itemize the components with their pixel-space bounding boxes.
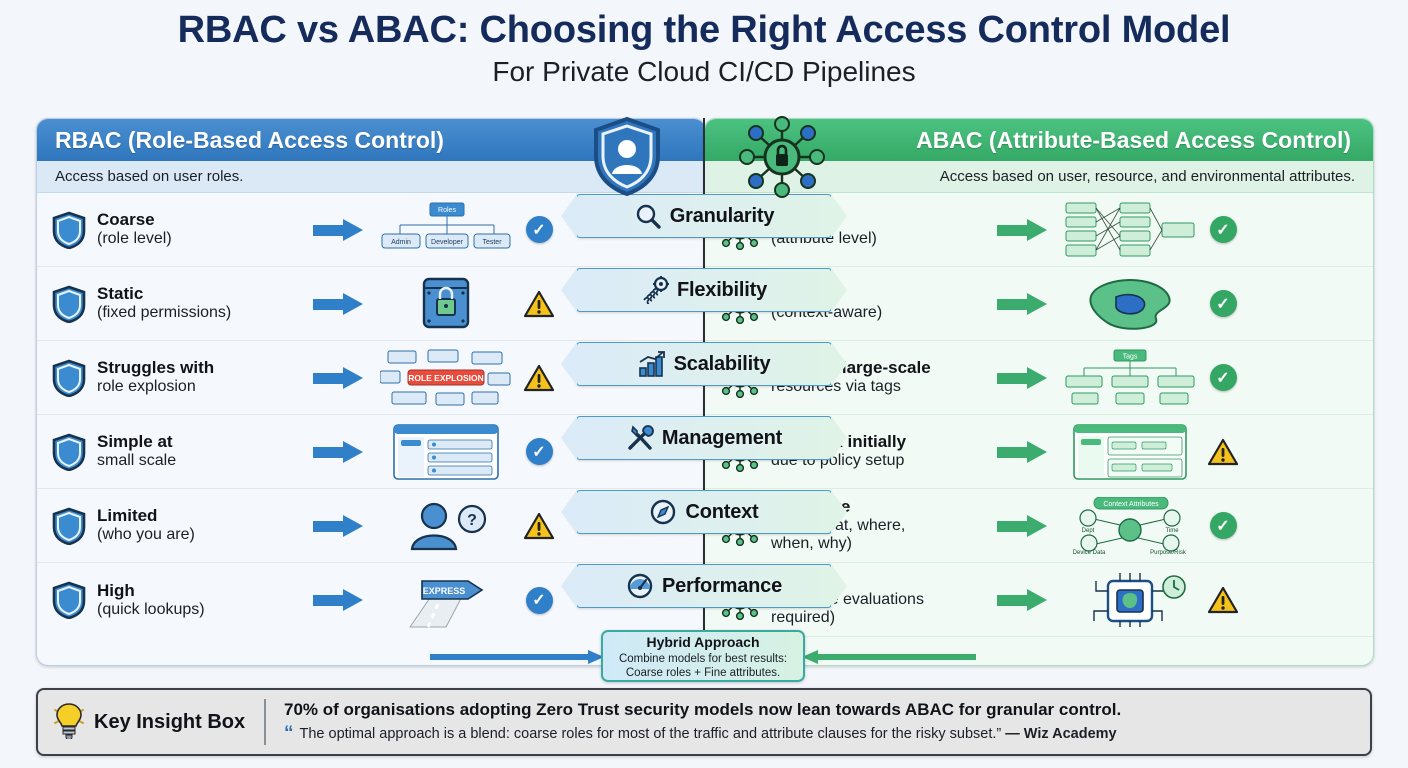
criteria-chip-management[interactable]: Management (576, 416, 832, 460)
attribute-network-lock-icon (738, 116, 826, 198)
locked-box-icon (376, 275, 516, 333)
arrow-right-blue (313, 219, 365, 241)
status-check-icon: ✓ (1200, 290, 1246, 317)
svg-text:ROLE EXPLOSION: ROLE EXPLOSION (408, 373, 484, 383)
arrow-right-blue (313, 515, 365, 537)
svg-text:Context Attributes: Context Attributes (1103, 501, 1159, 508)
arrow-right-green (997, 441, 1049, 463)
key-insight-body: 70% of organisations adopting Zero Trust… (266, 699, 1121, 745)
tools-icon (626, 424, 654, 452)
criteria-column: GranularityFlexibilityScalabilityManagem… (576, 194, 832, 638)
role-explosion-diagram: ROLE EXPLOSION (376, 349, 516, 407)
shield-icon (49, 285, 89, 323)
gauge-icon (626, 572, 654, 600)
svg-text:EXPRESS: EXPRESS (423, 586, 466, 596)
quote-icon: “ (284, 725, 294, 742)
spring-gear-icon (641, 276, 669, 304)
svg-text:Admin: Admin (391, 239, 411, 246)
status-warning-icon (516, 512, 562, 540)
realtime-chip-clock-icon (1060, 571, 1200, 629)
criteria-chip-flexibility[interactable]: Flexibility (576, 268, 832, 312)
svg-text:Tags: Tags (1123, 353, 1138, 360)
row-label: Coarse(role level) (89, 210, 302, 249)
svg-text:Time: Time (1165, 528, 1179, 534)
shield-icon (49, 507, 89, 545)
svg-text:Tester: Tester (482, 239, 502, 246)
status-check-icon: ✓ (1200, 364, 1246, 391)
status-warning-icon (1200, 438, 1246, 466)
status-warning-icon (516, 290, 562, 318)
criteria-label: Flexibility (677, 279, 767, 302)
key-insight-headline: 70% of organisations adopting Zero Trust… (284, 699, 1121, 721)
key-insight-box: Key Insight Box 70% of organisations ado… (36, 688, 1372, 756)
key-insight-quote-row: “ The optimal approach is a blend: coars… (284, 725, 1121, 745)
arrow-right-green (997, 219, 1049, 241)
status-check-icon: ✓ (516, 216, 562, 243)
svg-text:Dept: Dept (1082, 528, 1095, 534)
status-check-icon: ✓ (516, 587, 562, 614)
infographic-page: RBAC vs ABAC: Choosing the Right Access … (0, 0, 1408, 768)
rbac-title: RBAC (Role-Based Access Control) (55, 127, 444, 154)
hybrid-approach-box: Hybrid Approach Combine models for best … (601, 630, 805, 682)
criteria-label: Granularity (670, 205, 775, 228)
user-question-icon: ? (376, 497, 516, 555)
abac-title: ABAC (Attribute-Based Access Control) (916, 127, 1351, 154)
shield-icon (49, 211, 89, 249)
key-insight-attribution: — Wiz Academy (1005, 726, 1116, 742)
context-attributes-diagram: Context AttributesDeptTimeDevice DataPur… (1060, 497, 1200, 555)
shield-user-icon (592, 116, 662, 196)
criteria-label: Performance (662, 575, 782, 598)
policy-editor-window (1060, 423, 1200, 481)
status-check-icon: ✓ (1200, 216, 1246, 243)
arrow-right-green (997, 589, 1049, 611)
title-block: RBAC vs ABAC: Choosing the Right Access … (0, 8, 1408, 88)
svg-text:?: ? (467, 512, 477, 529)
role-hierarchy-diagram: AdminDeveloperTesterRoles (376, 201, 516, 259)
criteria-label: Scalability (674, 353, 771, 376)
hybrid-line-1: Combine models for best results: (603, 652, 803, 667)
flexible-blob-shape (1060, 275, 1200, 333)
hybrid-arrow-from-rbac (430, 650, 605, 664)
key-insight-title: Key Insight Box (94, 711, 245, 734)
arrow-right-blue (313, 589, 365, 611)
tag-tree-diagram: Tags (1060, 349, 1200, 407)
shield-icon (49, 359, 89, 397)
row-label: High(quick lookups) (89, 581, 302, 620)
key-insight-quote: The optimal approach is a blend: coarse … (300, 726, 1002, 742)
svg-text:Developer: Developer (431, 239, 464, 246)
admin-console-window (376, 423, 516, 481)
status-check-icon: ✓ (1200, 512, 1246, 539)
key-insight-header: Key Insight Box (38, 699, 266, 745)
arrow-right-green (997, 293, 1049, 315)
arrow-right-blue (313, 367, 365, 389)
arrow-right-blue (313, 441, 365, 463)
express-highway-icon: EXPRESS (376, 571, 516, 629)
shield-icon (49, 581, 89, 619)
attribute-mapping-network (1060, 201, 1200, 259)
status-check-icon: ✓ (516, 438, 562, 465)
status-warning-icon (1200, 586, 1246, 614)
criteria-chip-granularity[interactable]: Granularity (576, 194, 832, 238)
hybrid-title: Hybrid Approach (603, 634, 803, 652)
page-title: RBAC vs ABAC: Choosing the Right Access … (0, 8, 1408, 53)
page-subtitle: For Private Cloud CI/CD Pipelines (0, 55, 1408, 89)
svg-text:Purpose/Risk: Purpose/Risk (1150, 550, 1187, 555)
criteria-chip-scalability[interactable]: Scalability (576, 342, 832, 386)
lightbulb-icon (52, 701, 86, 744)
magnifier-icon (634, 202, 662, 230)
arrow-right-green (997, 515, 1049, 537)
hybrid-line-2: Coarse roles + Fine attributes. (603, 666, 803, 681)
row-label: Limited(who you are) (89, 506, 302, 545)
row-label: Simple atsmall scale (89, 432, 302, 471)
svg-text:Roles: Roles (438, 207, 456, 214)
hybrid-arrow-from-abac (801, 650, 976, 664)
row-label: Struggles withrole explosion (89, 358, 302, 397)
status-warning-icon (516, 364, 562, 392)
criteria-chip-context[interactable]: Context (576, 490, 832, 534)
criteria-label: Context (685, 501, 758, 524)
svg-text:Device Data: Device Data (1073, 550, 1106, 555)
criteria-chip-performance[interactable]: Performance (576, 564, 832, 608)
compass-icon (649, 498, 677, 526)
shield-icon (49, 433, 89, 471)
bar-chart-up-icon (638, 350, 666, 378)
arrow-right-blue (313, 293, 365, 315)
row-label: Static(fixed permissions) (89, 284, 302, 323)
criteria-label: Management (662, 427, 782, 450)
arrow-right-green (997, 367, 1049, 389)
